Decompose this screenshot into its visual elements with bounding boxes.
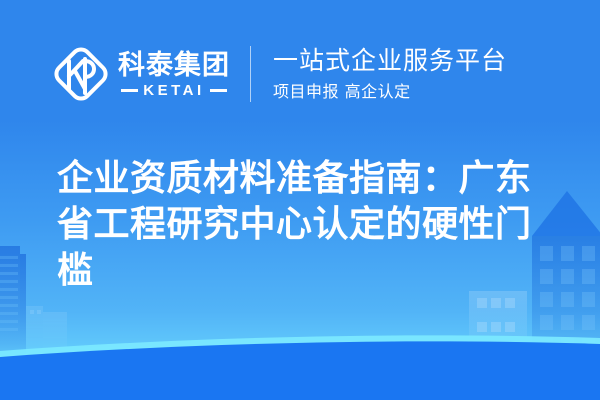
tagline-secondary: 项目申报 高企认定 [273, 81, 507, 103]
banner-headline: 企业资质材料准备指南：广东省工程研究中心认定的硬性门槛 [57, 156, 557, 294]
brand-header: 科泰集团 KETAI 一站式企业服务平台 项目申报 高企认定 [52, 38, 507, 110]
tagline-group: 一站式企业服务平台 项目申报 高企认定 [273, 46, 507, 103]
logo-name-en: KETAI [143, 83, 204, 99]
header-divider [250, 46, 251, 102]
tagline-primary: 一站式企业服务平台 [273, 46, 507, 76]
building-left-tower [0, 246, 26, 356]
ketai-logo-icon [52, 43, 110, 105]
logo-rule-left [121, 89, 138, 92]
logo-wordmark: 科泰集团 KETAI [118, 50, 230, 99]
promo-banner: 科泰集团 KETAI 一站式企业服务平台 项目申报 高企认定 企业资质材料准备指… [0, 0, 600, 400]
logo-name-cn: 科泰集团 [118, 50, 230, 80]
logo-name-en-row: KETAI [121, 83, 226, 99]
logo-rule-right [210, 89, 227, 92]
